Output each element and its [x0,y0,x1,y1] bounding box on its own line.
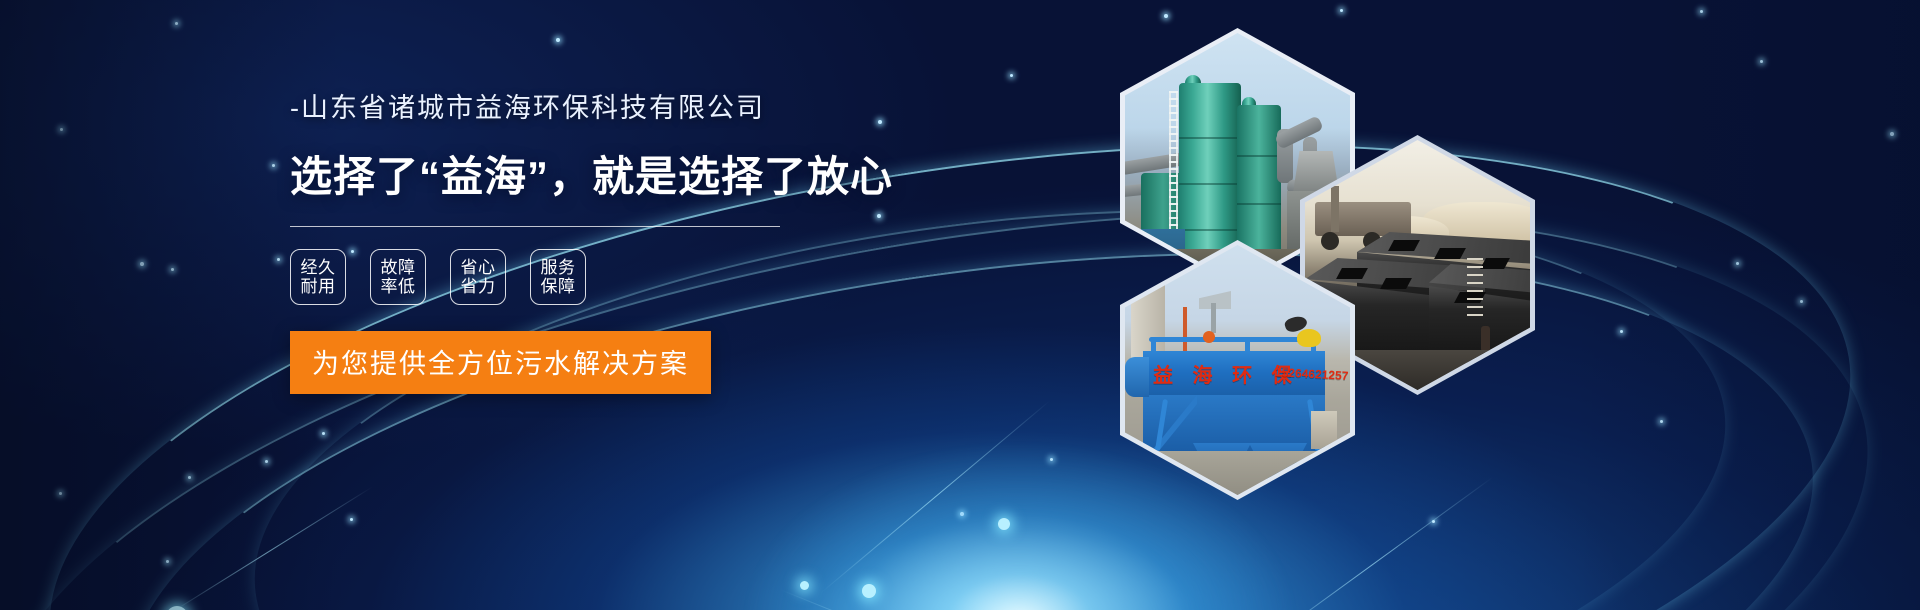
badge-line-2: 耐用 [301,277,336,296]
hero-copy: -山东省诸城市益海环保科技有限公司 选择了“益海”，就是选择了放心 经久 耐用 … [290,86,930,394]
badge-line-2: 省力 [461,277,496,296]
company-eyebrow: -山东省诸城市益海环保科技有限公司 [290,86,930,125]
badge-line-1: 经久 [301,258,336,277]
hero-banner: -山东省诸城市益海环保科技有限公司 选择了“益海”，就是选择了放心 经久 耐用 … [0,0,1920,610]
badge-line-2: 保障 [541,277,576,296]
feature-badge-service[interactable]: 服务 保障 [530,249,586,305]
feature-badge-durable[interactable]: 经久 耐用 [290,249,346,305]
page-title: 选择了“益海”，就是选择了放心 [290,143,930,204]
badge-line-1: 服务 [541,258,576,277]
badge-line-2: 率低 [381,277,416,296]
feature-badge-list: 经久 耐用 故障 率低 省心 省力 服务 保障 [290,249,930,305]
hexagon-photo-cluster: 益 海 环 保 15264621257 [1090,0,1920,610]
divider [290,226,780,227]
feature-badge-low-failure[interactable]: 故障 率低 [370,249,426,305]
feature-badge-effortless[interactable]: 省心 省力 [450,249,506,305]
cta-button[interactable]: 为您提供全方位污水解决方案 [290,331,711,394]
badge-line-1: 故障 [381,258,416,277]
badge-line-1: 省心 [461,258,496,277]
